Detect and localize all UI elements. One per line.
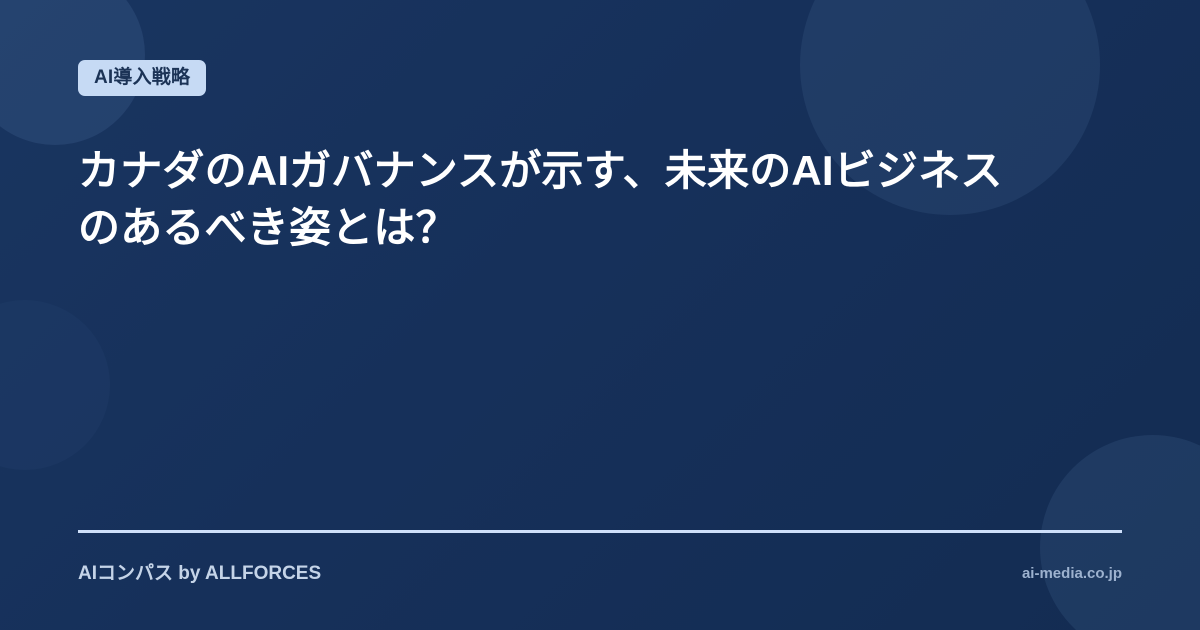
og-card: AI導入戦略 カナダのAIガバナンスが示す、未来のAIビジネス のあるべき姿とは…: [0, 0, 1200, 630]
footer-domain: ai-media.co.jp: [1022, 566, 1122, 581]
page-title-line-1: カナダのAIガバナンスが示す、未来のAIビジネス: [78, 142, 1088, 199]
page-title-line-2: のあるべき姿とは？: [78, 199, 1088, 256]
page-title: カナダのAIガバナンスが示す、未来のAIビジネス のあるべき姿とは？: [78, 142, 1088, 256]
category-badge: AI導入戦略: [78, 60, 206, 96]
footer-brand-name: AIコンパス by ALLFORCES: [78, 564, 321, 583]
footer-divider: [78, 530, 1122, 533]
card-footer: AIコンパス by ALLFORCES ai-media.co.jp: [78, 556, 1122, 590]
card-content: AI導入戦略 カナダのAIガバナンスが示す、未来のAIビジネス のあるべき姿とは…: [78, 0, 1122, 630]
